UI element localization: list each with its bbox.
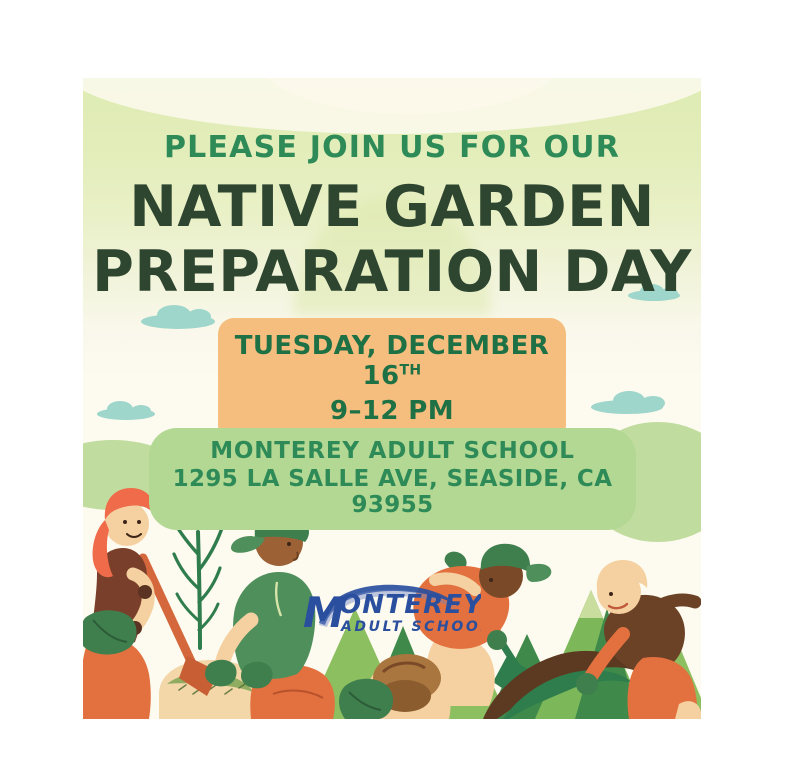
venue-address: 1295 LA SALLE AVE, SEASIDE, CA 93955 <box>149 466 636 518</box>
date-text: TUESDAY, DECEMBER 16 <box>235 331 549 391</box>
venue-name: MONTEREY ADULT SCHOOL <box>149 438 636 464</box>
date-ordinal-suffix: TH <box>399 362 421 378</box>
address-banner: MONTEREY ADULT SCHOOL 1295 LA SALLE AVE,… <box>149 428 636 530</box>
cloud-icon <box>591 400 663 414</box>
date-banner: TUESDAY, DECEMBER 16TH 9–12 PM <box>218 318 566 441</box>
cloud-icon <box>97 408 155 420</box>
logo-svg: M ONTEREY ADULT SCHOOL <box>301 583 481 635</box>
headline-block: PLEASE JOIN US FOR OUR NATIVE GARDEN PRE… <box>83 78 701 301</box>
date-line: TUESDAY, DECEMBER 16TH <box>218 331 566 391</box>
flyer-card: PLEASE JOIN US FOR OUR NATIVE GARDEN PRE… <box>83 78 701 719</box>
headline-line-2: PREPARATION DAY <box>83 244 701 301</box>
eyebrow-text: PLEASE JOIN US FOR OUR <box>83 130 701 165</box>
monterey-adult-school-logo: M ONTEREY ADULT SCHOOL <box>301 583 481 635</box>
logo-subtitle: ADULT SCHOOL <box>340 619 481 635</box>
poster-root: PLEASE JOIN US FOR OUR NATIVE GARDEN PRE… <box>0 0 800 777</box>
time-text: 9–12 PM <box>218 396 566 426</box>
headline-line-1: NATIVE GARDEN <box>129 174 655 240</box>
logo-name-rest: ONTEREY <box>339 590 481 620</box>
page-title: NATIVE GARDEN PREPARATION DAY <box>83 179 701 301</box>
cloud-icon <box>141 314 215 329</box>
